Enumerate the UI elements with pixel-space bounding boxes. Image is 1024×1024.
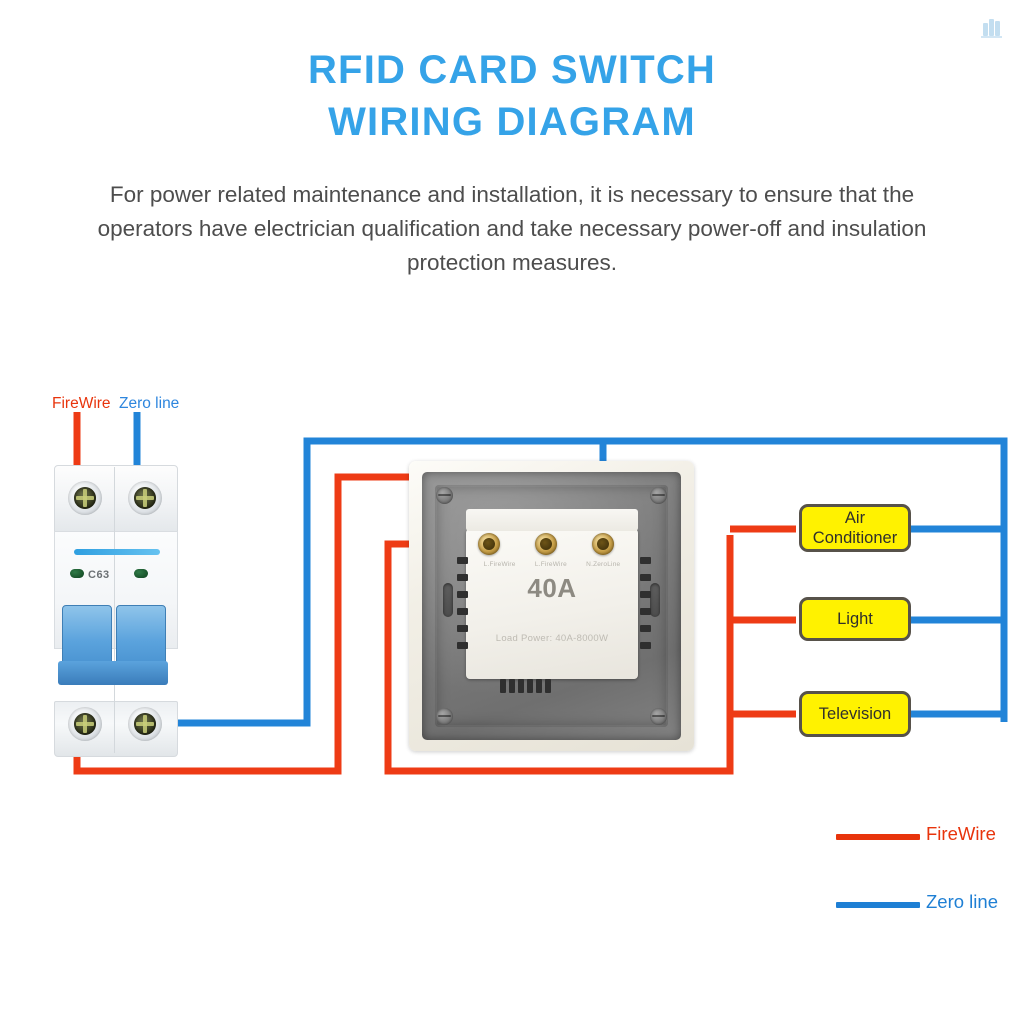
panel-slot-right	[650, 583, 660, 617]
breaker-toggle-base	[58, 661, 168, 685]
load-box-light[interactable]: Light	[799, 597, 911, 641]
breaker-terminal-top-right	[128, 481, 162, 515]
diagram-canvas: RFID CARD SWITCH WIRING DIAGRAM For powe…	[0, 0, 1024, 1024]
breaker-label-zeroline: Zero line	[119, 395, 179, 413]
legend-label-zeroline: Zero line	[926, 891, 998, 913]
load-box-television[interactable]: Television	[799, 691, 911, 737]
terminal-screw-l1	[478, 533, 500, 555]
panel-screw-top-left	[436, 487, 453, 504]
module-current-rating: 40A	[466, 573, 638, 604]
rfid-card-switch-module: L.FireWire L.FireWire N.ZeroLine 40A Loa…	[409, 461, 694, 751]
legend: FireWire Zero line	[836, 826, 1016, 962]
terminal-screw-n	[592, 533, 614, 555]
terminal-label-l2: L.FireWire	[535, 561, 567, 568]
breaker-label-firewire: FireWire	[52, 395, 111, 413]
panel-screw-bottom-left	[436, 708, 453, 725]
terminal-label-n: N.ZeroLine	[586, 561, 620, 568]
legend-row-firewire: FireWire	[836, 826, 1016, 894]
breaker-blue-stripe	[74, 549, 160, 555]
panel-screw-bottom-right	[650, 708, 667, 725]
panel-screw-top-right	[650, 487, 667, 504]
legend-label-firewire: FireWire	[926, 823, 996, 845]
legend-swatch-firewire	[836, 834, 920, 840]
module-teeth-right	[640, 557, 651, 656]
legend-swatch-zeroline	[836, 902, 920, 908]
load-box-air-conditioner[interactable]: Air Conditioner	[799, 504, 911, 552]
circuit-breaker: C63	[48, 465, 182, 755]
terminal-label-l1: L.FireWire	[484, 561, 516, 568]
module-teeth-left	[457, 557, 468, 656]
terminal-label-row: L.FireWire L.FireWire N.ZeroLine	[466, 561, 638, 568]
legend-row-zeroline: Zero line	[836, 894, 1016, 962]
panel-slot-left	[443, 583, 453, 617]
terminal-screw-l2	[535, 533, 557, 555]
breaker-terminal-bottom-left	[68, 707, 102, 741]
module-load-power: Load Power: 40A-8000W	[466, 633, 638, 644]
breaker-indicator-led-left	[70, 569, 84, 578]
breaker-indicator-led-right	[134, 569, 148, 578]
breaker-terminal-bottom-right	[128, 707, 162, 741]
breaker-terminal-top-left	[68, 481, 102, 515]
breaker-rating-label: C63	[88, 569, 110, 581]
module-teeth-bottom	[500, 679, 551, 693]
